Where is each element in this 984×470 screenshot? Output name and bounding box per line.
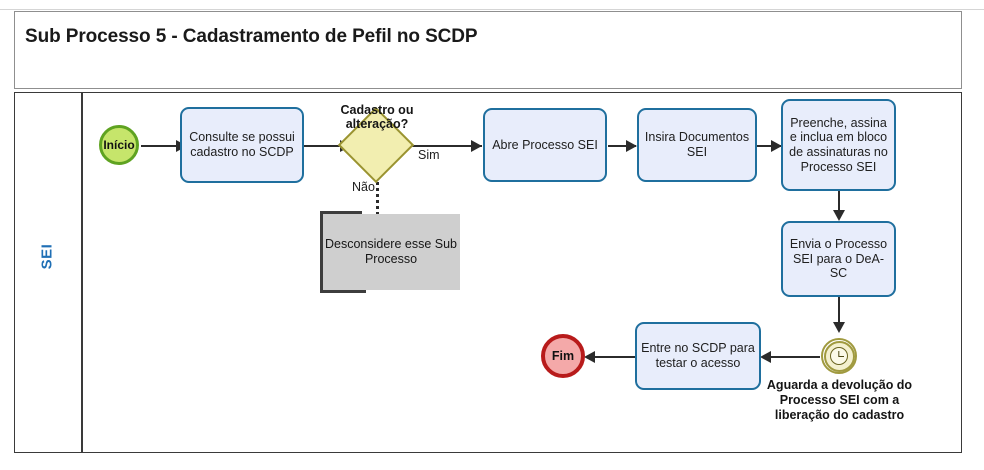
arrowhead-preenche-to-envia	[833, 210, 845, 221]
task-preenche-assina-bloco[interactable]: Preenche, assina e inclua em bloco de as…	[781, 99, 896, 191]
lane-header-sei: SEI	[14, 92, 83, 453]
flow-label-sim: Sim	[418, 148, 440, 162]
timer-event-aguarda-devolucao[interactable]	[821, 338, 857, 374]
task-entre-scdp-testar-acesso-label: Entre no SCDP para testar o acesso	[640, 341, 756, 371]
annotation-desconsidere: Desconsidere esse Sub Processo	[322, 214, 460, 290]
lane-label-sei: SEI	[39, 192, 56, 322]
top-strip	[0, 0, 984, 10]
arrowhead-gateway-to-abre	[471, 140, 482, 152]
title-frame: Sub Processo 5 - Cadastramento de Pefil …	[14, 11, 962, 89]
flow-start-to-consulta	[141, 145, 179, 147]
task-consulte-cadastro[interactable]: Consulte se possui cadastro no SCDP	[180, 107, 304, 183]
annotation-desconsidere-label: Desconsidere esse Sub Processo	[322, 237, 460, 267]
task-abre-processo-sei-label: Abre Processo SEI	[492, 138, 598, 153]
task-envia-processo-dea-sc[interactable]: Envia o Processo SEI para o DeA-SC	[781, 221, 896, 297]
end-event-label: Fim	[552, 349, 574, 363]
gateway-cadastro-ou-alteracao-label: Cadastro ou alteração?	[316, 103, 438, 132]
task-insira-documentos-sei[interactable]: Insira Documentos SEI	[637, 108, 757, 182]
arrowhead-envia-to-timer	[833, 322, 845, 333]
timer-event-aguarda-devolucao-caption: Aguarda a devolução do Processo SEI com …	[752, 378, 927, 423]
task-preenche-assina-bloco-label: Preenche, assina e inclua em bloco de as…	[786, 116, 891, 175]
flow-entre-to-fim	[588, 356, 635, 358]
flow-label-nao: Não	[352, 180, 375, 194]
task-entre-scdp-testar-acesso[interactable]: Entre no SCDP para testar o acesso	[635, 322, 761, 390]
clock-icon	[830, 347, 848, 365]
arrowhead-abre-to-insira	[626, 140, 637, 152]
page-title: Sub Processo 5 - Cadastramento de Pefil …	[25, 26, 477, 48]
task-consulte-cadastro-label: Consulte se possui cadastro no SCDP	[185, 130, 299, 160]
end-event-fim[interactable]: Fim	[541, 334, 585, 378]
task-abre-processo-sei[interactable]: Abre Processo SEI	[483, 108, 607, 182]
timer-event-inner-ring	[824, 341, 855, 372]
task-envia-processo-dea-sc-label: Envia o Processo SEI para o DeA-SC	[786, 237, 891, 281]
task-insira-documentos-sei-label: Insira Documentos SEI	[642, 130, 752, 160]
start-event-label: Início	[103, 138, 134, 152]
arrowhead-entre-to-fim	[584, 351, 595, 363]
start-event-inicio[interactable]: Início	[99, 125, 139, 165]
arrowhead-timer-to-entre	[760, 351, 771, 363]
diagram-page: Sub Processo 5 - Cadastramento de Pefil …	[0, 0, 984, 470]
flow-timer-to-entre	[764, 356, 820, 358]
